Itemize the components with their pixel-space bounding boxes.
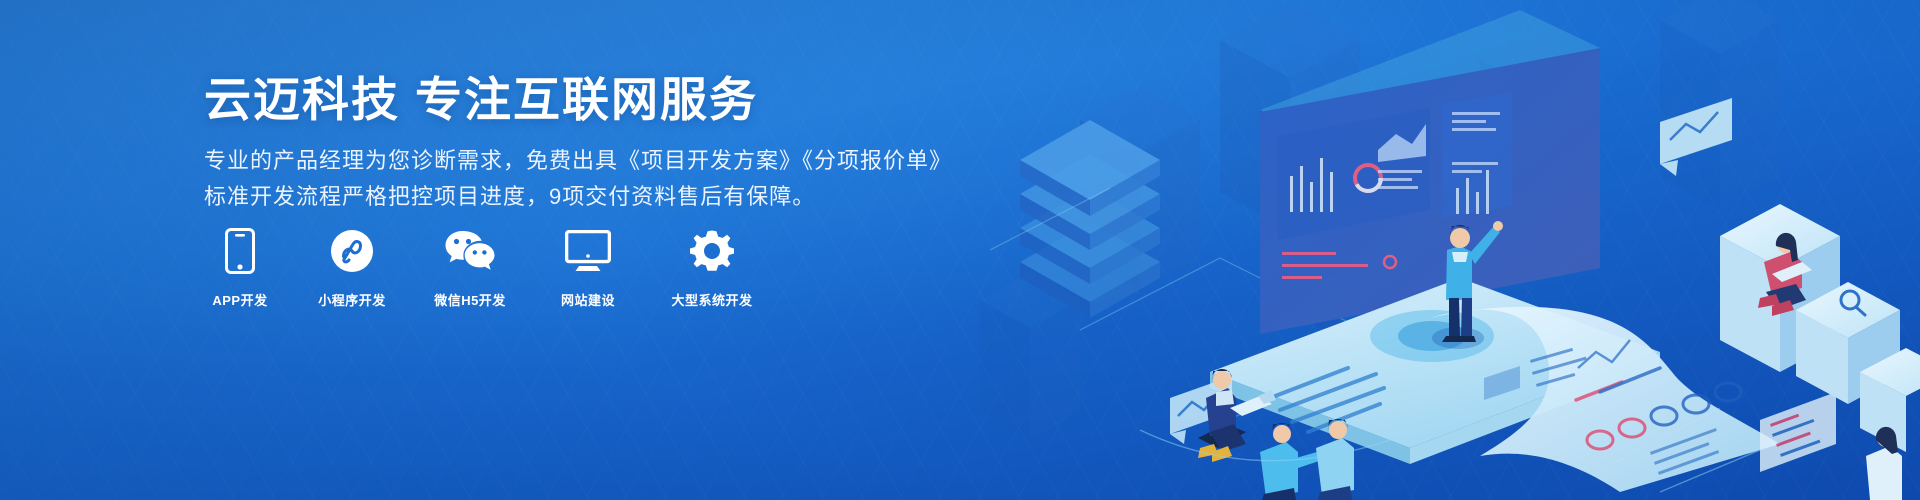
service-item-app[interactable]: APP开发 xyxy=(204,228,276,309)
hero-banner: 云迈科技 专注互联网服务 专业的产品经理为您诊断需求，免费出具《项目开发方案》《… xyxy=(0,0,1920,500)
service-item-mini-program[interactable]: 小程序开发 xyxy=(316,228,388,309)
subtitle-line-1: 专业的产品经理为您诊断需求，免费出具《项目开发方案》《分项报价单》 xyxy=(204,143,904,179)
hero-subtitle: 专业的产品经理为您诊断需求，免费出具《项目开发方案》《分项报价单》 标准开发流程… xyxy=(204,143,904,215)
mini-program-icon xyxy=(330,228,374,274)
service-item-large-system[interactable]: 大型系统开发 xyxy=(664,228,760,309)
wechat-icon xyxy=(444,228,496,274)
service-label: APP开发 xyxy=(212,290,267,309)
service-label: 微信H5开发 xyxy=(434,290,506,309)
gear-icon xyxy=(690,228,734,274)
isometric-illustration xyxy=(960,0,1920,500)
hero-copy: 云迈科技 专注互联网服务 专业的产品经理为您诊断需求，免费出具《项目开发方案》《… xyxy=(204,0,964,500)
service-item-wechat-h5[interactable]: 微信H5开发 xyxy=(428,228,512,309)
service-label: 小程序开发 xyxy=(318,290,386,309)
service-label: 大型系统开发 xyxy=(671,290,752,309)
server-stack xyxy=(1020,120,1160,318)
service-item-website[interactable]: 网站建设 xyxy=(552,228,624,309)
smartphone-icon xyxy=(225,228,255,274)
service-list: APP开发 小程序开发 xyxy=(204,228,760,309)
subtitle-line-2: 标准开发流程严格把控项目进度，9项交付资料售后有保障。 xyxy=(204,179,904,215)
monitor-icon xyxy=(565,228,611,274)
service-label: 网站建设 xyxy=(561,290,615,309)
page-title: 云迈科技 专注互联网服务 xyxy=(204,76,758,123)
